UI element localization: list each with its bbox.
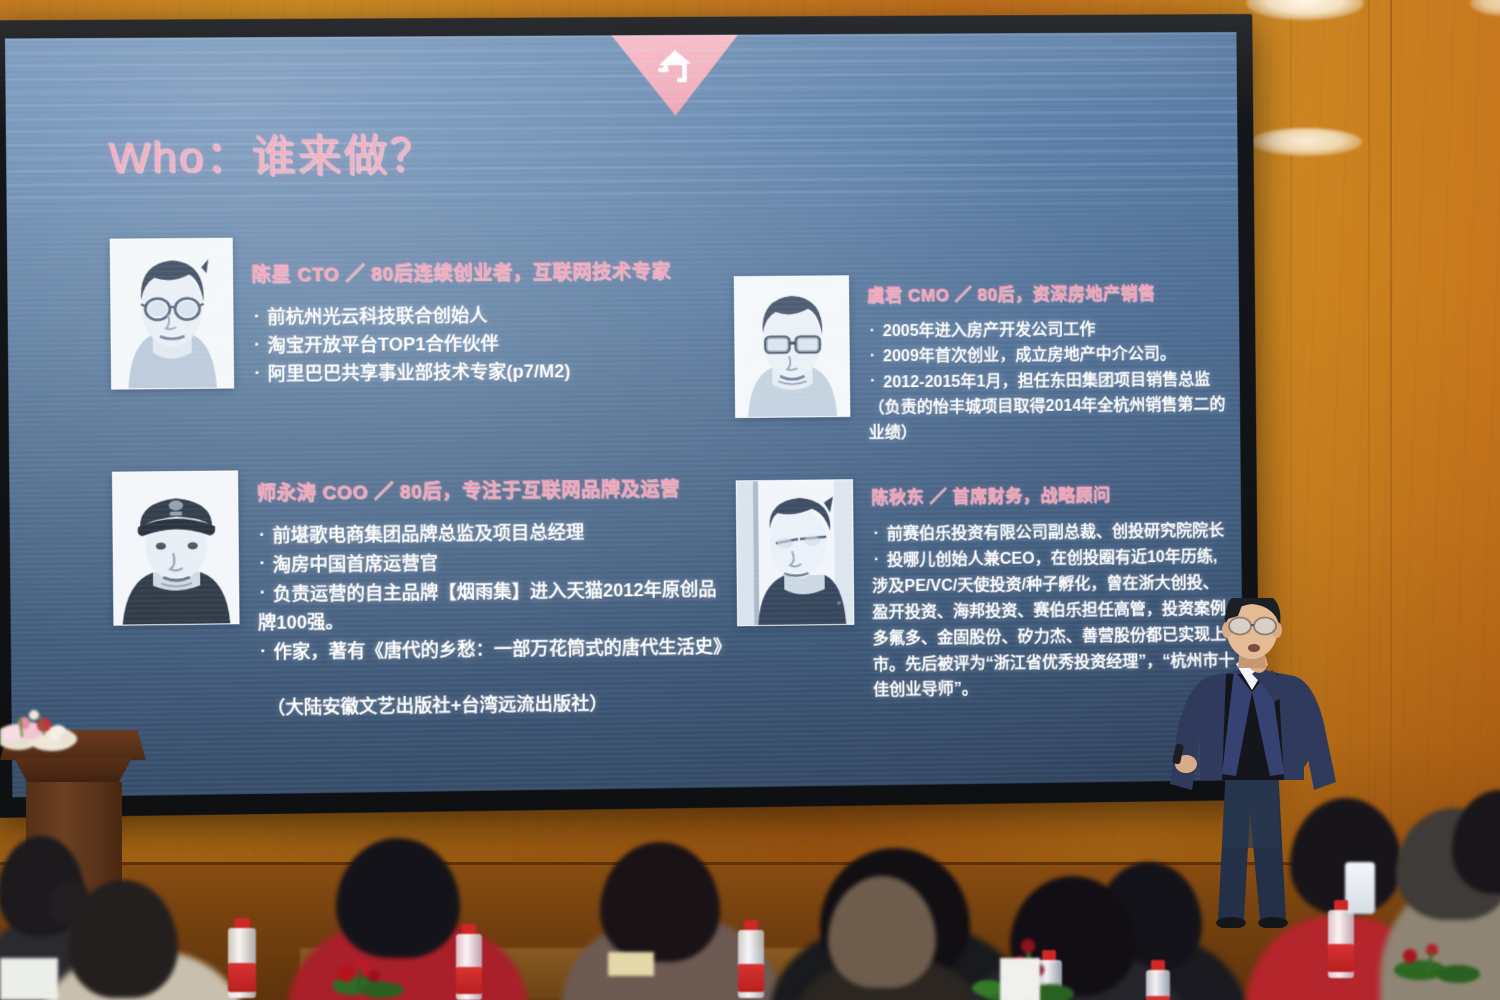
bottle-label: [228, 963, 256, 992]
water-bottle: [1146, 960, 1170, 1000]
water-bottle: [1328, 900, 1354, 978]
bottle-label: [1328, 944, 1354, 972]
table-name-card: [1000, 958, 1040, 1000]
water-bottle: [738, 920, 764, 998]
table-flower-arrangement: [330, 930, 450, 1000]
table-name-card: [0, 958, 58, 1000]
audience-head: [68, 880, 178, 998]
water-bottle: [456, 924, 482, 1000]
audience-head: [600, 842, 720, 962]
water-bottle: [228, 918, 256, 998]
bottle-label: [1146, 996, 1170, 1000]
bottle-label: [738, 964, 764, 992]
bottle-label: [456, 967, 482, 994]
conference-hall-scene: Who：谁来做？: [0, 0, 1500, 1000]
table-flower-arrangement: [1380, 918, 1500, 988]
audience-seating: [0, 0, 1500, 1000]
table-name-card: [608, 952, 654, 976]
